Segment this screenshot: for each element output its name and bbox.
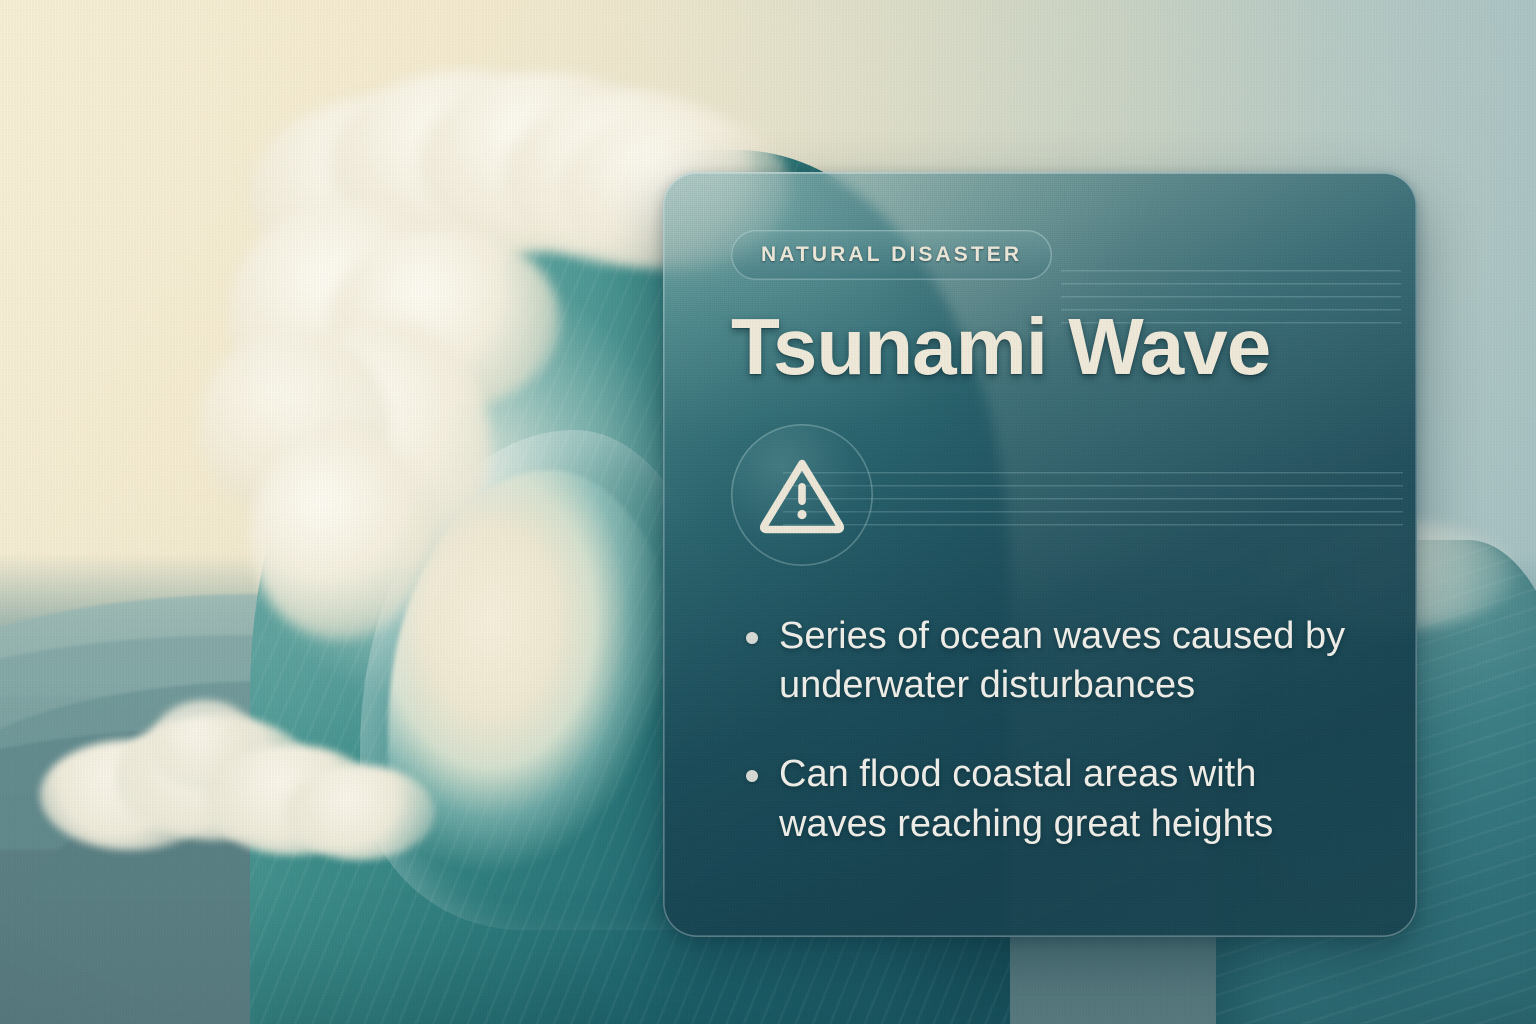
card-content: NATURAL DISASTER Tsunami Wave Series of …	[663, 172, 1417, 937]
list-item-text: Can flood coastal areas with waves reach…	[779, 753, 1273, 844]
whitewater-breaker	[285, 765, 435, 860]
warning-icon-badge	[731, 424, 873, 566]
category-badge[interactable]: NATURAL DISASTER	[731, 230, 1052, 280]
bullet-dot-icon	[746, 770, 758, 782]
list-item-text: Series of ocean waves caused by underwat…	[779, 615, 1345, 706]
list-item: Can flood coastal areas with waves reach…	[731, 750, 1361, 849]
crest-foam	[250, 430, 430, 640]
fact-list: Series of ocean waves caused by underwat…	[731, 612, 1361, 850]
warning-triangle-icon	[759, 456, 845, 534]
bullet-dot-icon	[746, 632, 758, 644]
card-title: Tsunami Wave	[731, 306, 1361, 388]
list-item: Series of ocean waves caused by underwat…	[731, 612, 1361, 711]
info-card: NATURAL DISASTER Tsunami Wave Series of …	[663, 172, 1417, 937]
screenshot-canvas: NATURAL DISASTER Tsunami Wave Series of …	[0, 0, 1536, 1024]
